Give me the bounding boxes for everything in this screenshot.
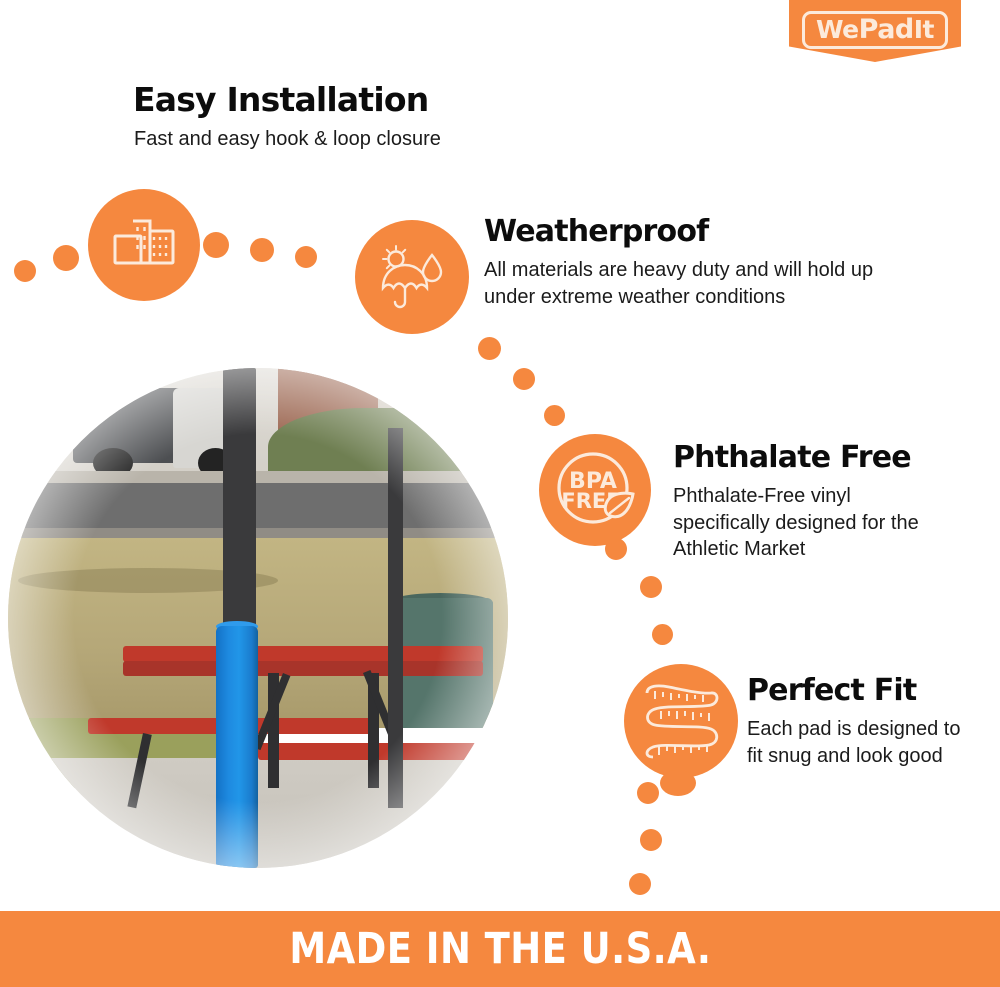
trail-dot <box>513 368 535 390</box>
easy-installation-icon-badge <box>88 189 200 301</box>
infographic-page: WePadIt Easy Installation Fast and easy … <box>0 0 1000 987</box>
made-in-usa-banner: MADE IN THE U.S.A. <box>0 911 1000 987</box>
brand-logo-banner: WePadIt <box>789 0 961 62</box>
measuring-tape-end-dot <box>660 770 696 796</box>
feature-title-weatherproof: Weatherproof <box>484 214 708 249</box>
trail-dot <box>250 238 274 262</box>
made-in-usa-text: MADE IN THE U.S.A. <box>289 924 711 974</box>
brand-logo-part3: It <box>914 15 934 44</box>
trail-dot <box>203 232 229 258</box>
brand-logo-part1: We <box>816 15 859 44</box>
brand-logo-frame: WePadIt <box>802 11 948 49</box>
feature-title-perfect-fit: Perfect Fit <box>747 673 916 708</box>
buildings-icon <box>113 217 175 273</box>
trail-dot <box>637 782 659 804</box>
brand-logo-part2: Pad <box>859 14 914 45</box>
trail-dot <box>544 405 565 426</box>
phthalate-free-icon-badge: BPA FREE <box>539 434 651 546</box>
trail-dot <box>478 337 501 360</box>
trail-dot <box>652 624 673 645</box>
trail-dot <box>640 576 662 598</box>
trail-dot <box>53 245 79 271</box>
sun-umbrella-raindrop-icon <box>377 244 447 310</box>
trail-dot <box>295 246 317 268</box>
measuring-tape-icon <box>639 681 723 761</box>
bpa-free-leaf-icon: BPA FREE <box>549 444 641 536</box>
feature-description-phthalate-free: Phthalate-Free vinyl specifically design… <box>673 483 933 563</box>
feature-title-easy-installation: Easy Installation <box>133 80 428 119</box>
weatherproof-icon-badge <box>355 220 469 334</box>
feature-description-easy-installation: Fast and easy hook & loop closure <box>134 126 554 153</box>
trail-dot <box>14 260 36 282</box>
trail-dot <box>640 829 662 851</box>
feature-description-perfect-fit: Each pad is designed to fit snug and loo… <box>747 716 972 769</box>
feature-title-phthalate-free: Phthalate Free <box>673 440 911 475</box>
trail-dot <box>629 873 651 895</box>
product-photo-vignette <box>8 368 508 868</box>
perfect-fit-icon-badge <box>624 664 738 778</box>
feature-description-weatherproof: All materials are heavy duty and will ho… <box>484 257 904 310</box>
product-photo <box>8 368 508 868</box>
